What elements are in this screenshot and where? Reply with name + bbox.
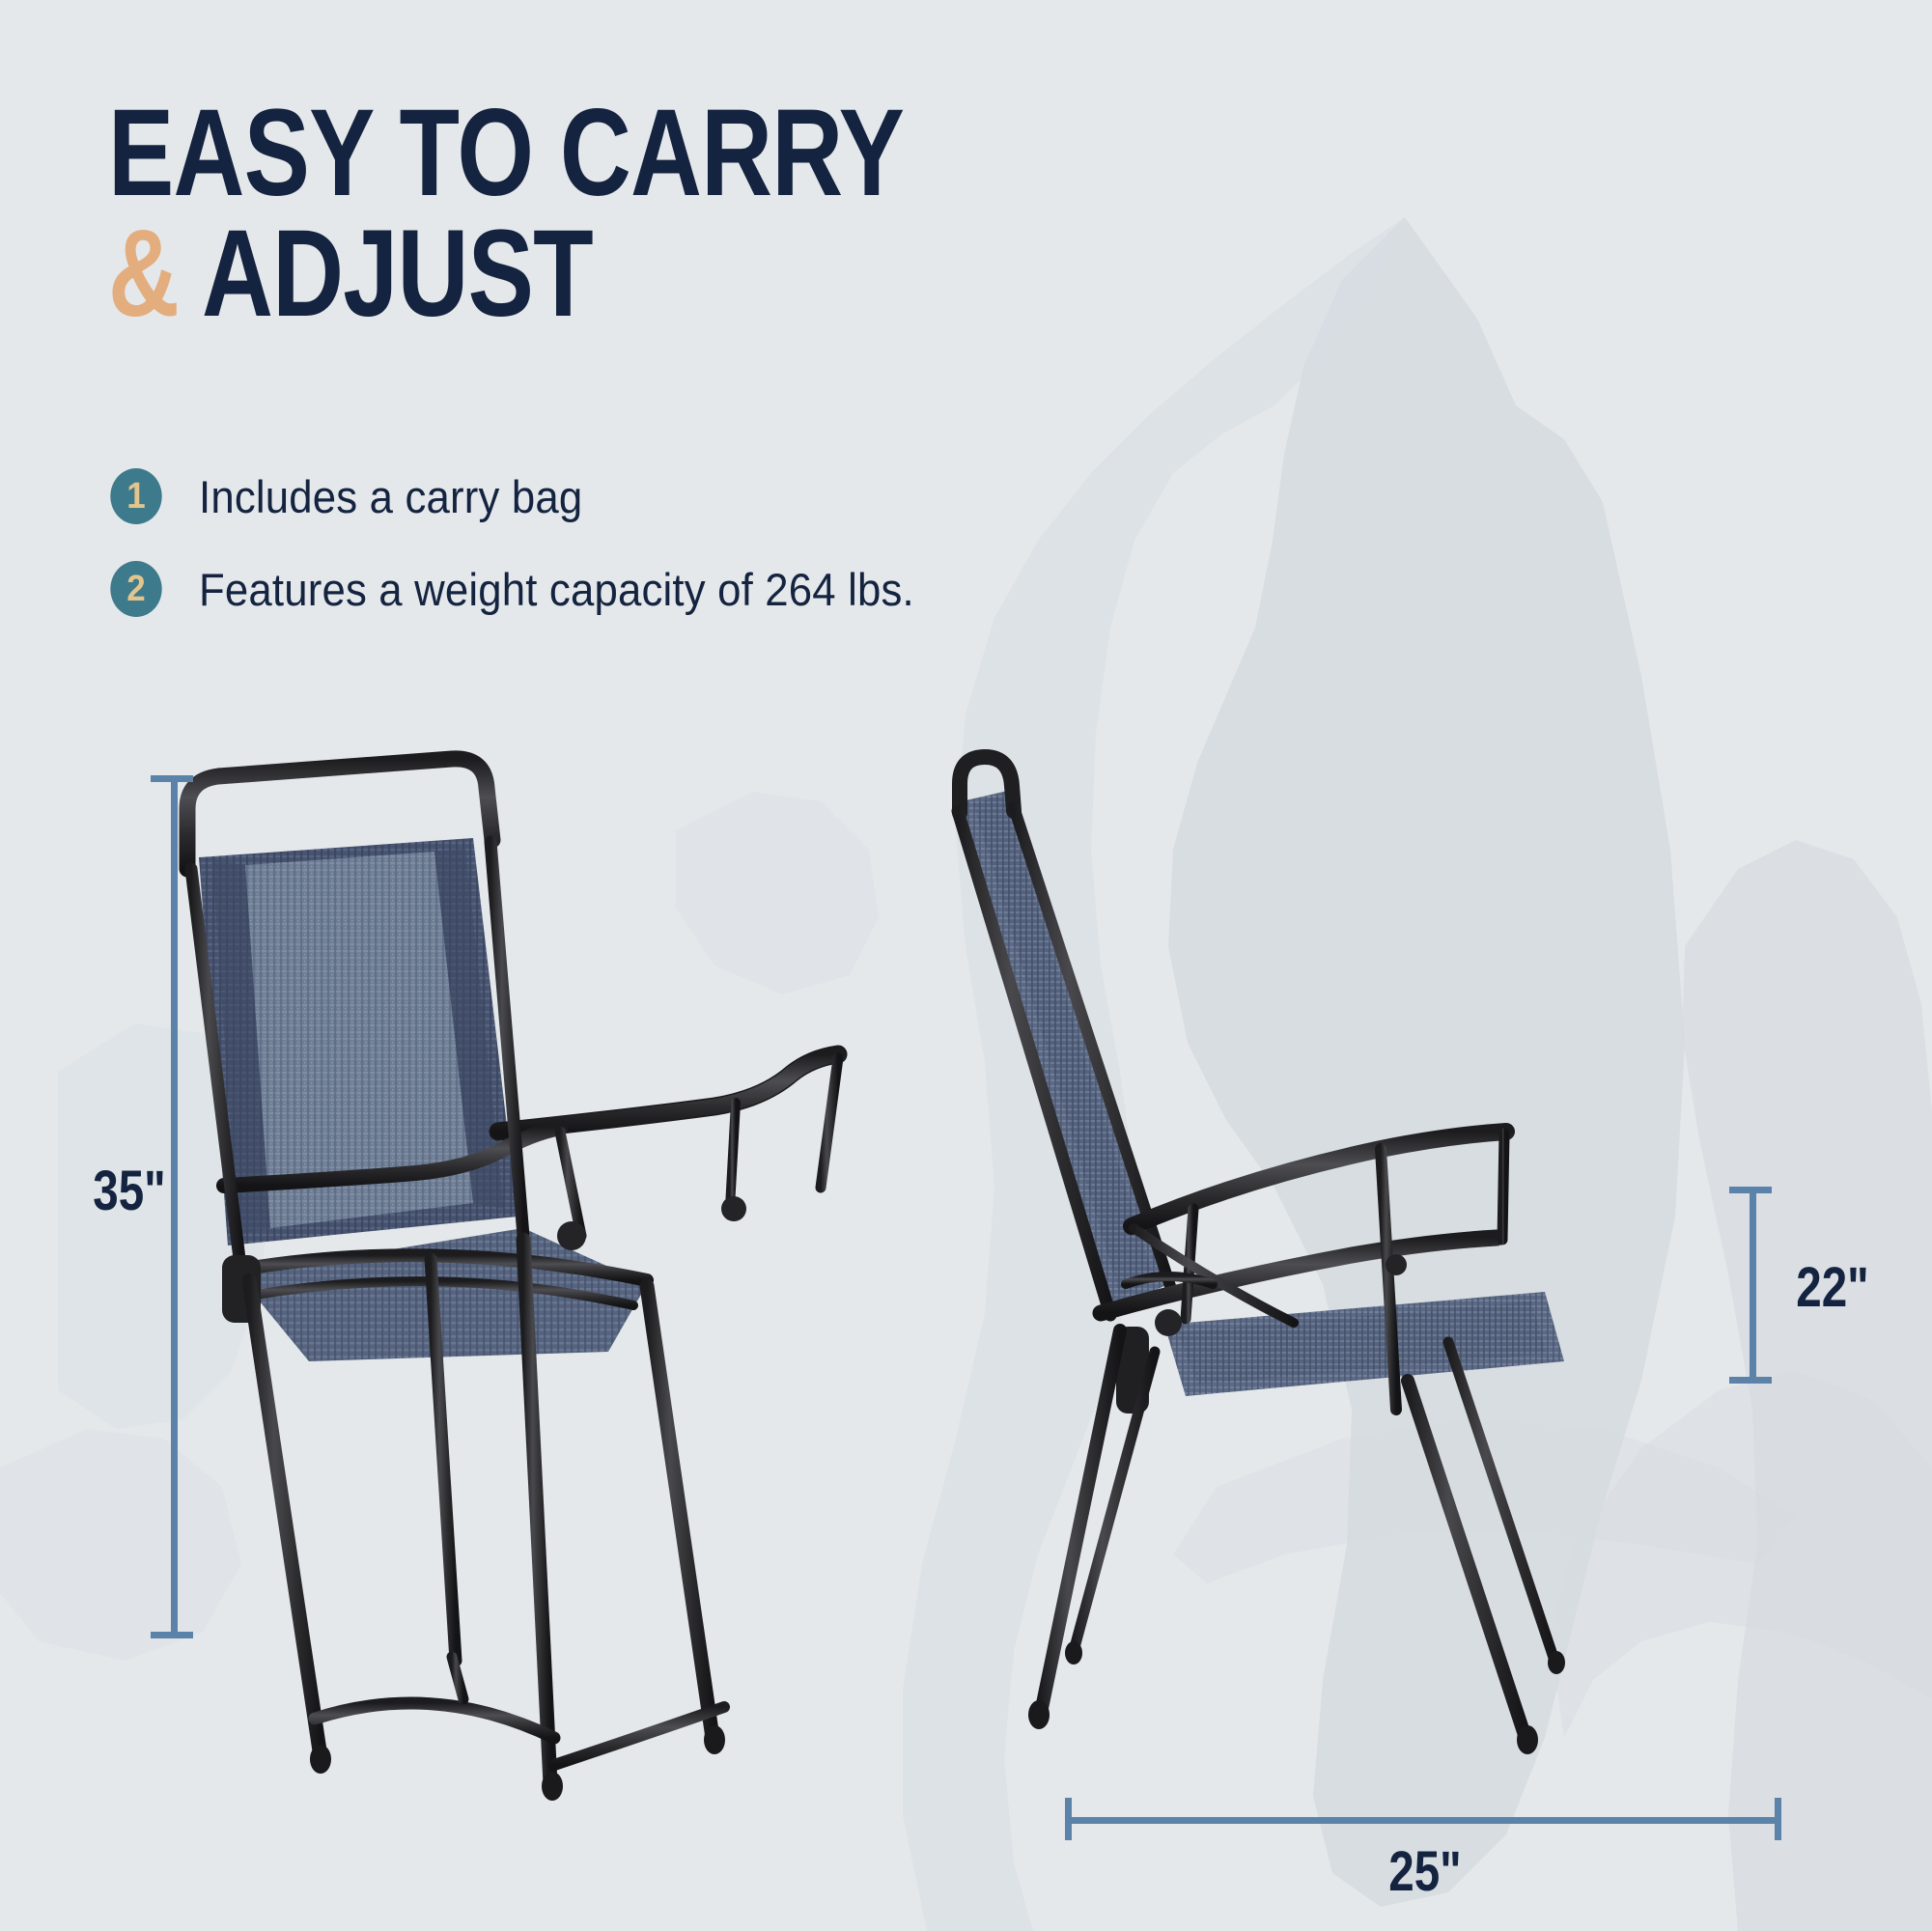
dim-cap-right-25 xyxy=(1775,1798,1781,1840)
brace-right xyxy=(554,1707,724,1765)
armrest-right xyxy=(498,1054,838,1132)
foot-side-3 xyxy=(1065,1641,1082,1665)
dim-label-35: 35" xyxy=(93,1159,165,1223)
leg-rear-side xyxy=(1408,1381,1526,1738)
arm-strut-right xyxy=(821,1058,838,1188)
feature-list: 1 Includes a carry bag 2 Features a weig… xyxy=(108,468,1267,654)
dim-cap-top-22 xyxy=(1729,1187,1772,1193)
armrest-upper xyxy=(1132,1132,1506,1226)
bullet-badge-2: 2 xyxy=(110,561,161,617)
infographic-canvas: EASY TO CARRY & ADJUST 1 Includes a carr… xyxy=(0,0,1932,1931)
dim-line-25 xyxy=(1067,1817,1781,1824)
leg-rear-inner xyxy=(1448,1342,1554,1661)
dim-cap-left-25 xyxy=(1065,1798,1072,1840)
seat-fabric-side xyxy=(1164,1292,1564,1396)
arm-post-3 xyxy=(1502,1133,1504,1240)
arm-strut-mid xyxy=(730,1103,736,1207)
headline-block: EASY TO CARRY & ADJUST xyxy=(108,93,1170,335)
bullet-badge-1: 1 xyxy=(110,468,161,524)
dim-line-35 xyxy=(171,778,178,1637)
bullet-text-1: Includes a carry bag xyxy=(199,470,582,523)
foot-cap-2 xyxy=(542,1772,563,1801)
leg-rear-right xyxy=(647,1286,713,1738)
hinge-right xyxy=(557,1221,586,1250)
foot-cap-1 xyxy=(310,1745,331,1774)
list-item: 1 Includes a carry bag xyxy=(108,468,1267,524)
headline-line-2-text: ADJUST xyxy=(202,205,593,343)
chair-side-view xyxy=(927,743,1719,1796)
foot-side-2 xyxy=(1517,1725,1538,1754)
hinge-arm xyxy=(721,1196,746,1221)
chair-front-view xyxy=(145,734,1014,1815)
dim-cap-top-35 xyxy=(151,775,193,782)
foot-cap-3 xyxy=(704,1725,725,1754)
bullet-text-2: Features a weight capacity of 264 lbs. xyxy=(199,563,914,616)
hinge-arm-side xyxy=(1386,1254,1407,1275)
ampersand-glyph: & xyxy=(108,205,179,343)
dim-label-22: 22" xyxy=(1796,1255,1868,1320)
foot-side-4 xyxy=(1548,1651,1565,1674)
brace-front xyxy=(315,1703,554,1738)
dim-line-22 xyxy=(1750,1189,1756,1383)
hinge-seat xyxy=(1155,1309,1182,1336)
headline-line-1: EASY TO CARRY xyxy=(108,93,958,213)
brace-stub xyxy=(452,1657,463,1699)
dim-cap-bottom-35 xyxy=(151,1632,193,1638)
dim-cap-bottom-22 xyxy=(1729,1377,1772,1384)
headline-line-2: & ADJUST xyxy=(108,213,958,334)
foot-side-1 xyxy=(1028,1700,1050,1729)
list-item: 2 Features a weight capacity of 264 lbs. xyxy=(108,561,1267,617)
dim-label-25: 25" xyxy=(1388,1839,1461,1904)
arm-strut-left xyxy=(560,1132,581,1236)
